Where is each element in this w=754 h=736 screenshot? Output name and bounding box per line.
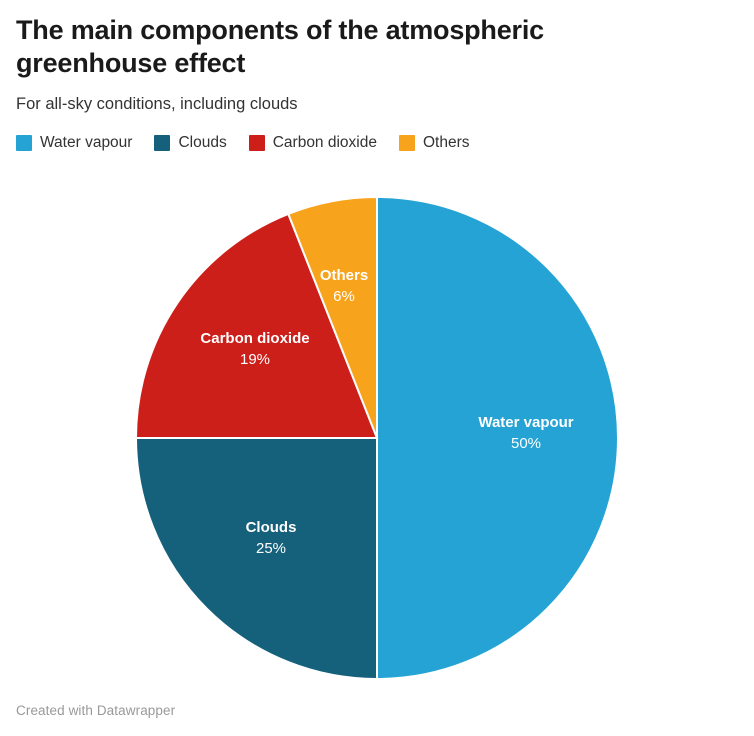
chart-subtitle: For all-sky conditions, including clouds xyxy=(16,93,716,115)
pie-slice-value: 19% xyxy=(240,351,270,368)
pie-slice[interactable] xyxy=(136,438,377,679)
pie-slice[interactable] xyxy=(136,214,377,438)
pie-slice-label: Clouds xyxy=(246,519,297,536)
pie-slice-group xyxy=(136,197,618,679)
pie-slice-value: 50% xyxy=(511,435,541,452)
legend-swatch-icon xyxy=(249,135,265,151)
legend-swatch-icon xyxy=(154,135,170,151)
legend-item-label: Water vapour xyxy=(40,133,132,153)
pie-slice-value: 6% xyxy=(333,288,355,305)
legend-item[interactable]: Water vapour xyxy=(16,133,132,153)
pie-slice-label: Others xyxy=(320,267,368,284)
legend-item[interactable]: Carbon dioxide xyxy=(249,133,377,153)
datawrapper-credit: Created with Datawrapper xyxy=(16,703,175,718)
legend-item-label: Carbon dioxide xyxy=(273,133,377,153)
pie-label-group: Water vapour50%Clouds25%Carbon dioxide19… xyxy=(200,267,573,557)
legend-item[interactable]: Others xyxy=(399,133,470,153)
legend-item-label: Clouds xyxy=(178,133,226,153)
pie-slice-label: Water vapour xyxy=(478,414,573,431)
chart-header: The main components of the atmospheric g… xyxy=(16,14,716,115)
pie-slice-value: 25% xyxy=(256,540,286,557)
legend-item-label: Others xyxy=(423,133,470,153)
legend-swatch-icon xyxy=(16,135,32,151)
chart-container: The main components of the atmospheric g… xyxy=(0,0,754,736)
pie-slice[interactable] xyxy=(377,197,618,679)
chart-legend: Water vapourCloudsCarbon dioxideOthers xyxy=(16,133,492,153)
legend-swatch-icon xyxy=(399,135,415,151)
pie-slice-label: Carbon dioxide xyxy=(200,330,309,347)
legend-item[interactable]: Clouds xyxy=(154,133,226,153)
pie-slice[interactable] xyxy=(288,197,377,438)
page-title: The main components of the atmospheric g… xyxy=(16,14,616,80)
